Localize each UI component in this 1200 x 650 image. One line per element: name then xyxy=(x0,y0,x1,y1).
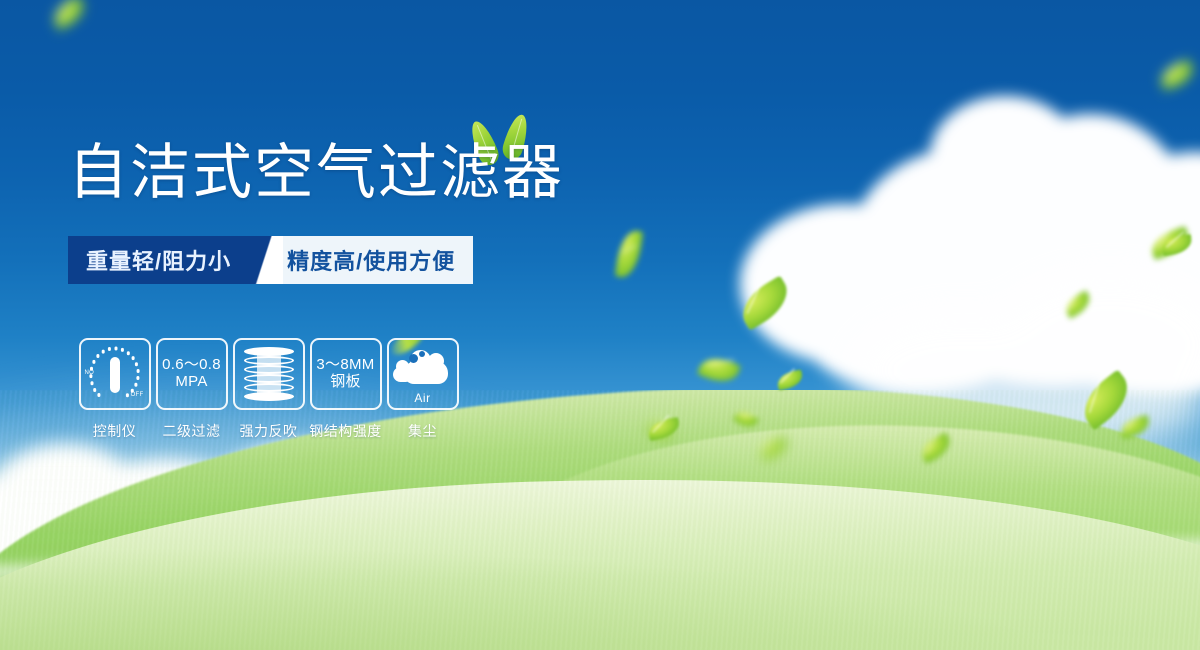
coil-ring xyxy=(244,383,294,392)
feature-icon-box: Air xyxy=(387,338,459,410)
coil-ring xyxy=(244,365,294,374)
gauge-off-label: OFF xyxy=(131,392,144,398)
cloud-cutout xyxy=(409,354,418,363)
cloud-cutout xyxy=(419,351,425,357)
feature-icon-box: NO OFF xyxy=(79,338,151,410)
grass-shading xyxy=(0,530,1200,650)
coil-filter-icon xyxy=(244,347,294,401)
page-title: 自洁式空气过滤器 xyxy=(68,143,564,203)
gauge-indicator-bar xyxy=(110,357,120,393)
air-label: Air xyxy=(392,391,454,405)
steel-plate-text-icon: 3～8MM 钢板 xyxy=(316,357,374,391)
air-cloud-icon: Air xyxy=(392,345,454,403)
coil-ring xyxy=(244,392,294,401)
subtitle-secondary: 精度高/使用方便 xyxy=(283,236,473,284)
feature-label: 控制仪 xyxy=(93,421,137,441)
gauge-control-icon: NO OFF xyxy=(85,344,145,404)
coil-ring xyxy=(244,356,294,365)
feature-icon-box: 0.6～0.8 MPA xyxy=(156,338,228,410)
gauge-on-label: NO xyxy=(85,370,95,376)
subtitle-bar: 重量轻/阻力小 精度高/使用方便 xyxy=(68,236,473,284)
subtitle-separator-slash xyxy=(249,236,283,284)
cloud-main-shape xyxy=(404,361,448,384)
coil-ring xyxy=(244,374,294,383)
feature-item-steel[interactable]: 3～8MM 钢板 钢结构强度 xyxy=(307,338,384,441)
feature-item-dust[interactable]: Air 集尘 xyxy=(384,338,461,441)
coil-ring xyxy=(244,347,294,356)
feature-label: 集尘 xyxy=(408,421,437,441)
pressure-text-icon: 0.6～0.8 MPA xyxy=(162,357,221,391)
feature-icon-box: 3～8MM 钢板 xyxy=(310,338,382,410)
feature-list: NO OFF 控制仪 0.6～0.8 MPA 二级过滤 xyxy=(76,338,461,441)
subtitle-primary: 重量轻/阻力小 xyxy=(68,236,249,284)
feature-label: 二级过滤 xyxy=(163,421,221,441)
feature-item-blowback[interactable]: 强力反吹 xyxy=(230,338,307,441)
feature-label: 强力反吹 xyxy=(240,421,298,441)
feature-item-control[interactable]: NO OFF 控制仪 xyxy=(76,338,153,441)
product-hero-banner: 自洁式空气过滤器 重量轻/阻力小 精度高/使用方便 xyxy=(0,0,1200,650)
feature-item-pressure[interactable]: 0.6～0.8 MPA 二级过滤 xyxy=(153,338,230,441)
feature-icon-box xyxy=(233,338,305,410)
feature-label: 钢结构强度 xyxy=(309,421,382,441)
